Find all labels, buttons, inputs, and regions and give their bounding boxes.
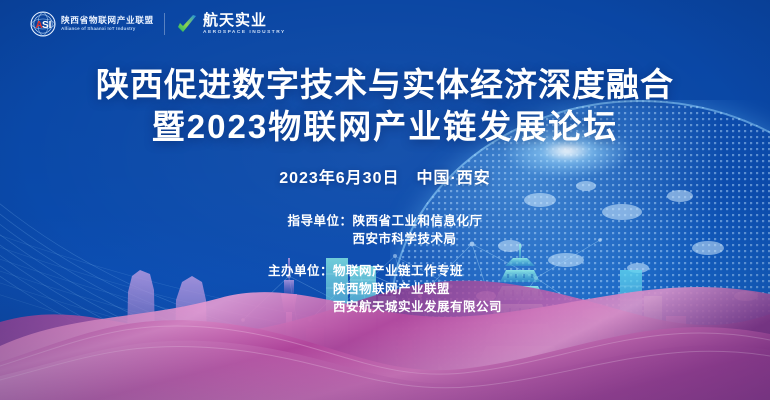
organizer-label-host: 主办单位： [268,262,333,280]
aerospace-logo-text: 航天实业 AEROSPACE INDUSTRY [203,13,286,36]
aerospace-logo-cn-name: 航天实业 [203,13,286,28]
aerospace-swoosh-icon [177,14,197,34]
organizer-block-guidance: 指导单位： 陕西省工业和信息化厅 西安市科学技术局 [287,212,482,248]
asi-circle-logo-icon: A SI [30,11,56,37]
organizer-block-host: 主办单位： 物联网产业链工作专班 陕西物联网产业联盟 西安航天城实业发展有限公司 [268,262,502,316]
organizer-values-guidance: 陕西省工业和信息化厅 西安市科学技术局 [353,212,483,248]
organizer-item: 陕西省工业和信息化厅 [353,212,483,230]
banner-content: 陕西促进数字技术与实体经济深度融合 暨2023物联网产业链发展论坛 2023年6… [0,0,770,400]
asi-logo-en-name: Alliance of Shaanxi IoT Industry [61,27,152,32]
logo-bar: A SI 陕西省物联网产业联盟 Alliance of Shaanxi IoT … [30,11,286,37]
banner-date-location: 2023年6月30日 中国·西安 [0,164,770,188]
organizer-list: 指导单位： 陕西省工业和信息化厅 西安市科学技术局 主办单位： 物联网产业链工作… [0,212,770,316]
aerospace-logo-en-name: AEROSPACE INDUSTRY [203,31,286,36]
aerospace-logo: 航天实业 AEROSPACE INDUSTRY [177,13,286,36]
organizer-label-guidance: 指导单位： [287,212,352,230]
banner-title-line1: 陕西促进数字技术与实体经济深度融合 [0,64,770,106]
organizer-item: 陕西物联网产业联盟 [333,280,502,298]
asi-logo: A SI 陕西省物联网产业联盟 Alliance of Shaanxi IoT … [30,11,152,37]
organizer-values-host: 物联网产业链工作专班 陕西物联网产业联盟 西安航天城实业发展有限公司 [333,262,502,316]
organizer-item: 西安市科学技术局 [353,230,483,248]
asi-logo-cn-name: 陕西省物联网产业联盟 [61,16,154,25]
organizer-item: 西安航天城实业发展有限公司 [333,298,502,316]
conference-banner: A SI 陕西省物联网产业联盟 Alliance of Shaanxi IoT … [0,0,770,400]
logo-divider [164,13,165,35]
banner-title: 陕西促进数字技术与实体经济深度融合 暨2023物联网产业链发展论坛 [0,64,770,148]
organizer-item: 物联网产业链工作专班 [333,262,502,280]
svg-text:SI: SI [42,20,52,31]
banner-title-line2: 暨2023物联网产业链发展论坛 [0,106,770,148]
asi-logo-text: 陕西省物联网产业联盟 Alliance of Shaanxi IoT Indus… [61,16,152,31]
